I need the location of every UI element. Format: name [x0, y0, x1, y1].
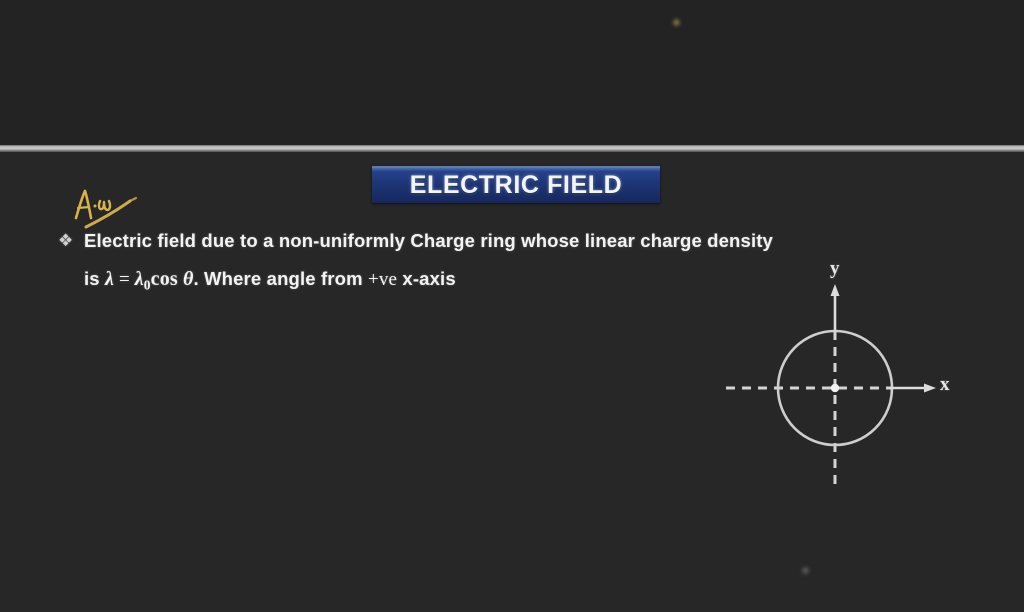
y-axis-arrowhead — [831, 284, 840, 296]
lambda-symbol: λ — [105, 268, 114, 290]
cos-operator: cos — [151, 268, 183, 290]
line2-xaxis: x-axis — [397, 268, 456, 289]
body-text-line-1: Electric field due to a non-uniformly Ch… — [84, 228, 773, 253]
slide-canvas: ELECTRIC FIELD ❖ Electric field due to a… — [0, 0, 1024, 612]
bullet-diamond-icon: ❖ — [58, 228, 84, 253]
title-banner: ELECTRIC FIELD — [372, 166, 660, 203]
plus-ve-label: +ve — [368, 269, 397, 290]
page-title: ELECTRIC FIELD — [410, 171, 623, 200]
x-axis-arrowhead — [924, 384, 936, 393]
background-band-top — [0, 0, 1024, 145]
line2-prefix: is — [84, 268, 105, 289]
line2-midtext: . Where angle from — [193, 268, 368, 289]
bullet-line-1: ❖ Electric field due to a non-uniformly … — [58, 228, 958, 253]
lambda-subscript-zero: 0 — [144, 278, 151, 293]
y-axis-label: y — [830, 258, 840, 280]
x-axis-label: x — [940, 374, 950, 396]
theta-symbol: θ — [183, 268, 194, 290]
artifact-speck-top — [671, 17, 682, 28]
ring-axes-diagram: y x — [712, 252, 982, 502]
equals-sign: = — [114, 269, 135, 290]
origin-dot — [831, 384, 839, 392]
horizontal-divider — [0, 145, 1024, 152]
lambda-zero-symbol: λ — [135, 268, 144, 290]
artifact-speck-bottom — [800, 565, 811, 576]
